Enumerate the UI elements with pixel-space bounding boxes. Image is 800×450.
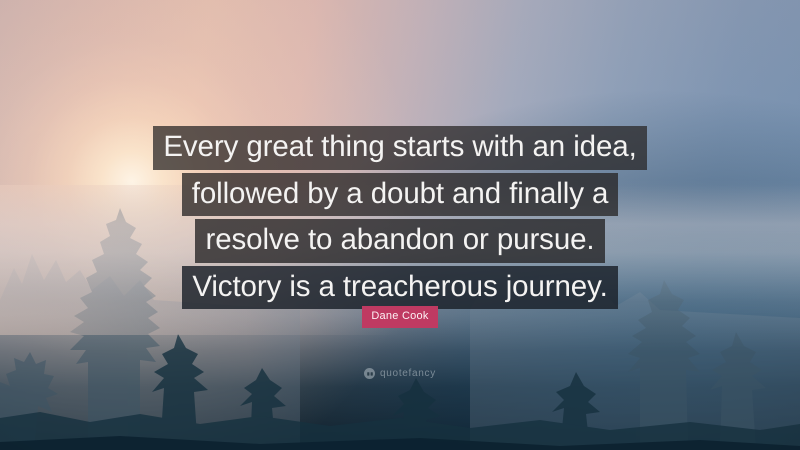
- quote-text-block: Every great thing starts with an idea, f…: [0, 126, 800, 312]
- quote-line-2: followed by a doubt and finally a: [182, 173, 619, 217]
- quote-line-1: Every great thing starts with an idea,: [153, 126, 646, 170]
- author-attribution: Dane Cook: [0, 306, 800, 328]
- quote-mark-icon: [364, 368, 375, 379]
- quote-line-3: resolve to abandon or pursue.: [195, 219, 604, 263]
- quote-line-4: Victory is a treacherous journey.: [182, 266, 617, 310]
- watermark: quotefancy: [0, 368, 800, 379]
- quote-wallpaper: Every great thing starts with an idea, f…: [0, 0, 800, 450]
- watermark-brand: quotefancy: [380, 369, 436, 379]
- author-name-badge: Dane Cook: [362, 306, 437, 328]
